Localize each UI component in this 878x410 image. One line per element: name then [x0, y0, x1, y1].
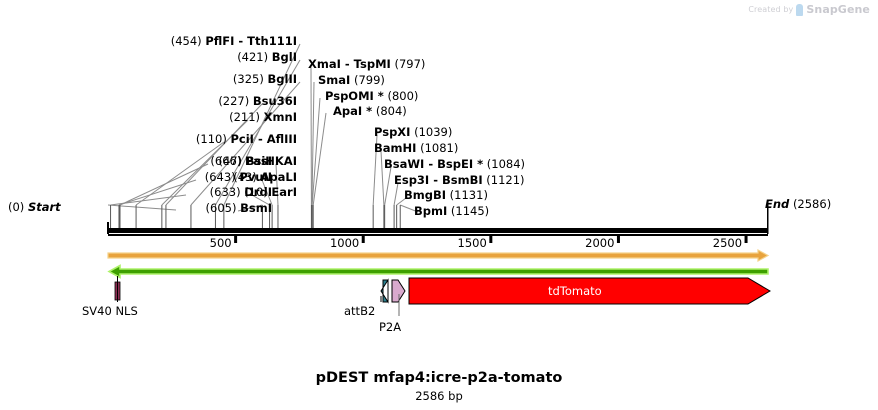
enzyme-position: (1121): [483, 173, 525, 187]
enzyme-label-bglii: (325) BglII: [233, 73, 297, 85]
enzyme-position: (454): [171, 34, 206, 48]
enzyme-name: PasI: [245, 154, 272, 168]
enzyme-label-bmgbi: BmgBI (1131): [404, 189, 488, 201]
enzyme-label-pspxi: PspXI (1039): [374, 126, 452, 138]
enzyme-name: EarI: [271, 185, 297, 199]
enzyme-position: (799): [350, 73, 385, 87]
ruler-tick-2500: 2500: [712, 236, 742, 250]
green-backbone-track: [109, 266, 768, 278]
enzyme-label-bsawi-bspei-: BsaWI - BspEI * (1084): [384, 158, 525, 170]
enzyme-label-pvuii: (643) PvuII: [205, 171, 272, 183]
enzyme-position: (804): [372, 104, 407, 118]
enzyme-name: ApaI *: [333, 104, 372, 118]
end-position: (2586): [793, 197, 831, 211]
enzyme-label-pspomi-: PspOMI * (800): [325, 90, 418, 102]
orange-backbone-track: [108, 250, 768, 261]
feature-attb2: [381, 280, 388, 302]
enzyme-position: (325): [233, 72, 268, 86]
enzyme-position: (605): [206, 201, 241, 215]
enzyme-label-apai-: ApaI * (804): [333, 105, 407, 117]
enzyme-name: XmaI - TspMI: [308, 57, 391, 71]
enzyme-name: BglI: [272, 50, 297, 64]
enzyme-label-pasi: (666) PasI: [210, 155, 272, 167]
enzyme-name: BsaWI - BspEI *: [384, 157, 483, 171]
enzyme-position: (633): [210, 185, 245, 199]
enzyme-position: (643): [205, 170, 240, 184]
plasmid-length: 2586 bp: [0, 389, 878, 403]
enzyme-name: XmnI: [264, 110, 297, 124]
enzyme-name: DrdI: [244, 185, 272, 199]
start-name: Start: [28, 200, 61, 214]
feature-shapes-group: [108, 250, 770, 316]
end-label: End (2586): [765, 198, 831, 210]
enzyme-name: Bsu36I: [253, 94, 297, 108]
enzyme-name: Esp3I - BsmBI: [394, 173, 483, 187]
enzyme-label-drdi: (633) DrdI: [210, 186, 272, 198]
enzyme-position: (211): [229, 110, 264, 124]
enzyme-name: BamHI: [374, 141, 416, 155]
enzyme-position: (1145): [447, 204, 489, 218]
enzyme-name: BglII: [268, 72, 298, 86]
enzyme-name: PspXI: [374, 125, 410, 139]
enzyme-label-pcii-afliii: (110) PciI - AflIII: [196, 133, 297, 145]
enzyme-position: (666): [210, 154, 245, 168]
start-label: (0) Start: [8, 201, 61, 213]
enzyme-position: (1081): [416, 141, 458, 155]
start-position: (0): [8, 200, 24, 214]
enzyme-name: BsmI: [240, 201, 272, 215]
enzyme-name: SmaI: [318, 73, 350, 87]
enzyme-name: PspOMI *: [325, 89, 384, 103]
ruler-tick-500: 500: [202, 236, 232, 250]
ruler-tick-2000: 2000: [584, 236, 614, 250]
enzyme-label-bsu36i: (227) Bsu36I: [218, 95, 297, 107]
enzyme-label-xmai-tspmi: XmaI - TspMI (797): [308, 58, 425, 70]
enzyme-position: (1039): [410, 125, 452, 139]
enzyme-label-bgli: (421) BglI: [237, 51, 297, 63]
enzyme-position: (110): [196, 132, 231, 146]
enzyme-label-bamhi: BamHI (1081): [374, 142, 458, 154]
feature-label-tdtomato: tdTomato: [548, 284, 602, 298]
enzyme-position: (421): [237, 50, 272, 64]
end-name: End: [765, 197, 789, 211]
enzyme-position: (1084): [483, 157, 525, 171]
enzyme-label-esp3i-bsmbi: Esp3I - BsmBI (1121): [394, 174, 525, 186]
map-title-block: pDEST mfap4:icre-p2a-tomato 2586 bp: [0, 370, 878, 403]
enzyme-label-bpmi: BpmI (1145): [414, 205, 489, 217]
page-title: pDEST mfap4:icre-p2a-tomato: [0, 370, 878, 386]
enzyme-name: PvuII: [239, 170, 272, 184]
enzyme-label-smai: SmaI (799): [318, 74, 385, 86]
enzyme-name: BpmI: [414, 204, 447, 218]
enzyme-position: (797): [391, 57, 426, 71]
enzyme-label-pflfi-tth111i: (454) PflFI - Tth111I: [171, 35, 297, 47]
feature-label-sv40-nls: SV40 NLS: [82, 304, 138, 318]
enzyme-label-bsmi: (605) BsmI: [206, 202, 272, 214]
enzyme-label-xmni: (211) XmnI: [229, 111, 297, 123]
ruler-tick-1000: 1000: [329, 236, 359, 250]
enzyme-position: (800): [384, 89, 419, 103]
enzyme-position: (1131): [446, 188, 488, 202]
ruler-tick-1500: 1500: [457, 236, 487, 250]
feature-label-attb2: attB2: [344, 304, 375, 318]
enzyme-name: BmgBI: [404, 188, 446, 202]
enzyme-name: PflFI - Tth111I: [205, 34, 297, 48]
feature-label-p2a: P2A: [379, 320, 401, 334]
enzyme-name: PciI - AflIII: [230, 132, 297, 146]
enzyme-position: (227): [218, 94, 253, 108]
